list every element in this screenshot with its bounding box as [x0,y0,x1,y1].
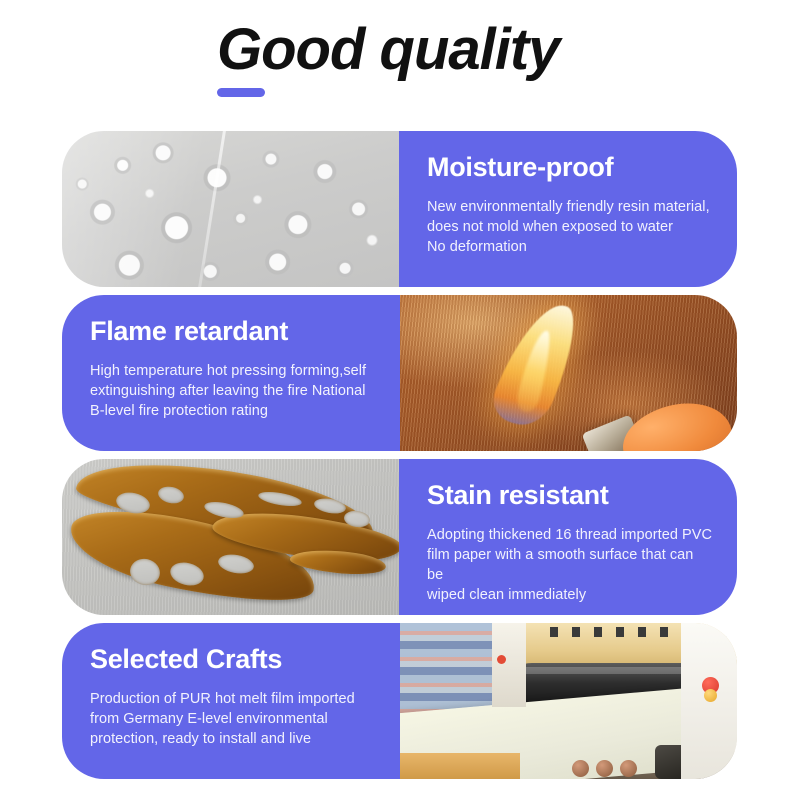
feature-text-panel: Flame retardant High temperature hot pre… [62,295,400,451]
title-accent-bar [217,88,265,97]
feature-body: Production of PUR hot melt film imported… [90,689,376,749]
feature-heading: Flame retardant [90,317,376,347]
factory-floor [400,753,520,779]
machine-control-panel [492,623,526,707]
feature-card-moisture-proof[interactable]: Moisture-proof New environmentally frien… [62,131,737,287]
feature-heading: Selected Crafts [90,645,376,675]
feature-body: New environmentally friendly resin mater… [427,197,713,257]
flame-on-wood-image [400,295,737,451]
thumb-object [616,394,736,451]
machine-wheel [596,760,613,777]
feature-body: High temperature hot pressing forming,se… [90,361,376,421]
feature-text-panel: Selected Crafts Production of PUR hot me… [62,623,400,779]
machine-wheel [620,760,637,777]
machine-wheel [572,760,589,777]
brown-stain-image [62,459,399,615]
laminating-machine-image [400,623,737,779]
feature-heading: Stain resistant [427,481,713,511]
feature-card-selected-crafts[interactable]: Selected Crafts Production of PUR hot me… [62,623,737,779]
feature-card-flame-retardant[interactable]: Flame retardant High temperature hot pre… [62,295,737,451]
feature-text-panel: Stain resistant Adopting thickened 16 th… [399,459,737,615]
feature-text-panel: Moisture-proof New environmentally frien… [399,131,737,287]
feature-heading: Moisture-proof [427,153,713,183]
machine-yellow-knob [704,689,717,702]
feature-card-stain-resistant[interactable]: Stain resistant Adopting thickened 16 th… [62,459,737,615]
machine-stop-button [497,655,506,664]
water-droplets-image [62,131,399,287]
page-title: Good quality [217,18,559,82]
machine-roller-highlight [518,667,700,674]
feature-card-list: Moisture-proof New environmentally frien… [62,131,737,787]
page-header: Good quality [0,0,800,118]
feature-body: Adopting thickened 16 thread imported PV… [427,525,713,605]
